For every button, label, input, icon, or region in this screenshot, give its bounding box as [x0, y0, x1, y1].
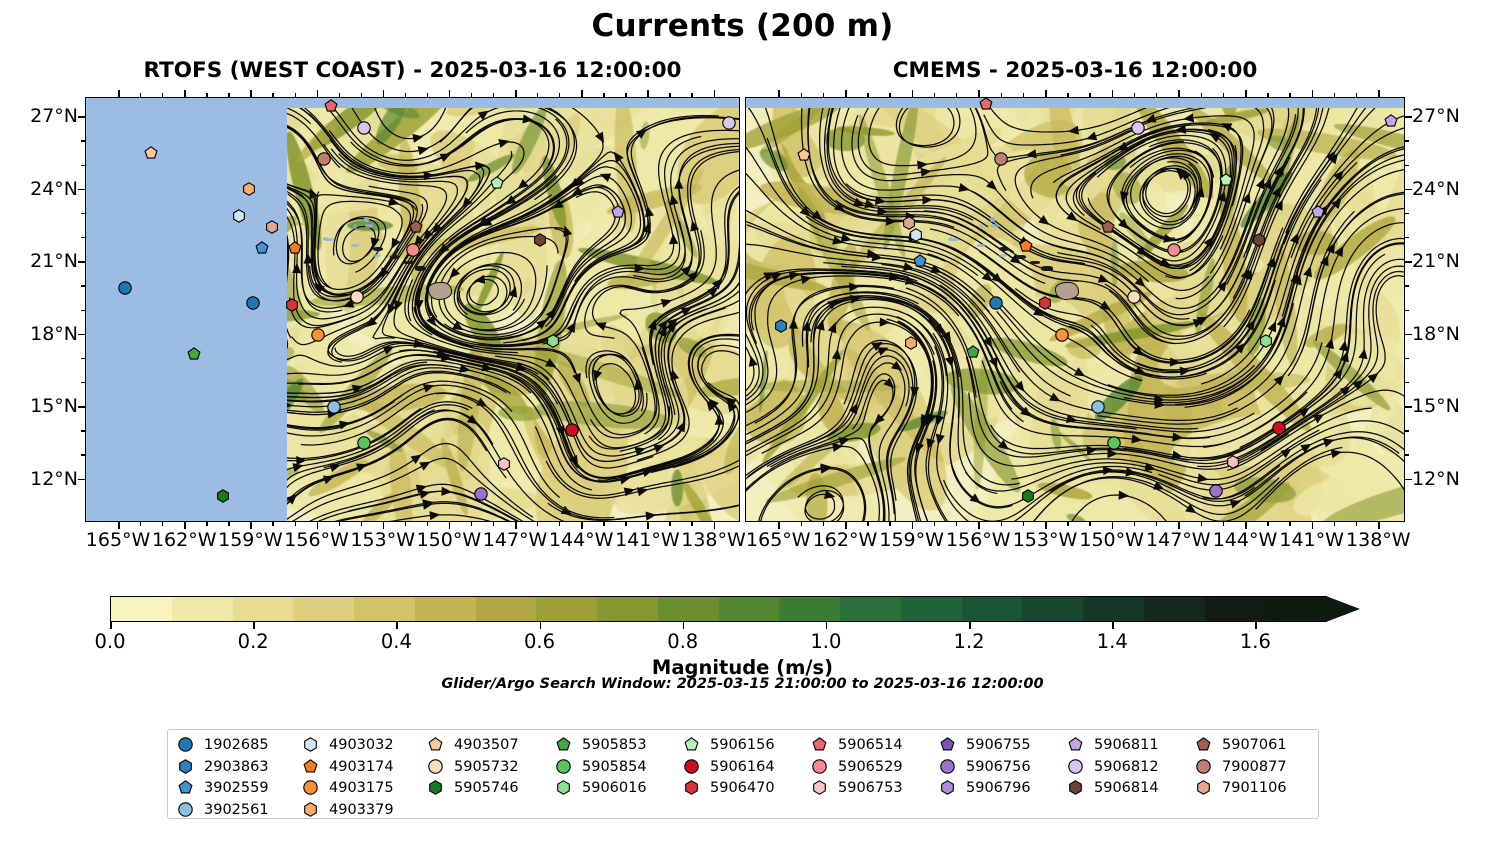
xtick-minor-top: [427, 93, 428, 97]
ytick-major: [78, 261, 85, 263]
ytick-label-left: 27°N: [30, 105, 78, 127]
xtick-minor: [867, 522, 868, 526]
xtick-label: 165°W: [746, 529, 811, 551]
xtick-major: [647, 522, 649, 529]
legend-swatch-pentagon-icon: [428, 737, 445, 754]
colorbar-band-19: [1265, 597, 1326, 621]
float-marker-4903175[interactable]: [1055, 328, 1069, 342]
ytick-label-right: 18°N: [1412, 323, 1460, 345]
float-marker-5907061[interactable]: [409, 220, 423, 234]
streamline-arrow: [1219, 119, 1232, 132]
search-window-caption: Glider/Argo Search Window: 2025-03-15 21…: [0, 676, 1485, 692]
ytick-label-right: 21°N: [1412, 250, 1460, 272]
float-marker-5905854[interactable]: [1107, 436, 1121, 450]
colorbar-band-2: [233, 597, 294, 621]
colorbar-band-0: [111, 597, 172, 621]
legend-item-7900877[interactable]: 7900877: [1196, 759, 1324, 776]
legend-swatch-hexagon-icon: [684, 780, 701, 797]
ytick-label-right: 27°N: [1412, 105, 1460, 127]
colorbar-tick: [826, 622, 828, 629]
xtick-label: 141°W: [615, 529, 680, 551]
xtick-minor-top: [1289, 93, 1290, 97]
legend-item-5906514[interactable]: 5906514: [812, 737, 940, 754]
legend-swatch-hexagon-icon: [940, 780, 957, 797]
float-marker-5905746[interactable]: [216, 489, 230, 503]
colorbar-tick-label: 1.6: [1240, 630, 1271, 653]
streamline: [329, 130, 524, 268]
shallow-bank: [991, 224, 998, 228]
ytick-minor: [1405, 213, 1409, 214]
float-marker-5906470[interactable]: [285, 298, 299, 312]
xtick-major-top: [383, 90, 385, 97]
xtick-minor-top: [228, 93, 229, 97]
float-marker-5906514[interactable]: [979, 97, 993, 111]
colorbar-band-14: [962, 597, 1023, 621]
xtick-major-top: [714, 90, 716, 97]
xtick-minor-top: [361, 93, 362, 97]
legend-item-5906470[interactable]: 5906470: [684, 780, 812, 797]
streamline-arrow: [412, 132, 424, 143]
legend-item-5906796[interactable]: 5906796: [940, 780, 1068, 797]
streamline-arrow: [411, 451, 425, 464]
xtick-minor: [956, 522, 957, 526]
float-marker-5906016[interactable]: [1259, 334, 1273, 348]
float-marker-5906812[interactable]: [1131, 121, 1145, 135]
colorbar-band-7: [536, 597, 597, 621]
island-kauai: [999, 247, 1009, 251]
panel-title-rtofs: RTOFS (WEST COAST) - 2025-03-16 12:00:00: [85, 58, 740, 83]
legend-label: 5906156: [710, 737, 775, 754]
xtick-major: [778, 522, 780, 529]
legend-swatch-circle-icon: [428, 759, 445, 776]
float-marker-4903174[interactable]: [1019, 239, 1033, 253]
ytick-major: [78, 116, 85, 118]
xtick-major: [1245, 522, 1247, 529]
figure-canvas: Currents (200 m) RTOFS (WEST COAST) - 20…: [0, 0, 1485, 863]
ytick-label-left: 15°N: [30, 395, 78, 417]
legend-label: 4903032: [329, 737, 394, 754]
legend-swatch-pentagon-icon: [940, 737, 957, 754]
xtick-minor: [1156, 522, 1157, 526]
xtick-major-top: [317, 90, 319, 97]
ytick-major: [78, 334, 85, 336]
float-marker-5906756[interactable]: [474, 487, 488, 501]
streamline-arrow: [958, 183, 970, 194]
streamline-arrow: [1183, 113, 1195, 123]
streamline: [901, 273, 1210, 438]
float-marker-4903379[interactable]: [242, 182, 256, 196]
legend-label: 4903379: [329, 802, 394, 819]
float-marker-5906164[interactable]: [565, 423, 579, 437]
streamline-arrow: [886, 217, 897, 227]
legend-item-5906812[interactable]: 5906812: [1068, 759, 1196, 776]
float-marker-4903507[interactable]: [797, 148, 811, 162]
ytick-label-right: 24°N: [1412, 178, 1460, 200]
xtick-minor: [295, 522, 296, 526]
xtick-major: [250, 522, 252, 529]
xtick-major-top: [1312, 90, 1314, 97]
streamline-arrow: [1303, 265, 1315, 278]
xtick-minor-top: [823, 93, 824, 97]
colorbar-band-11: [779, 597, 840, 621]
colorbar-tick-label: 1.0: [810, 630, 841, 653]
float-marker-7901106[interactable]: [265, 220, 279, 234]
xtick-minor-top: [206, 93, 207, 97]
legend-column-1: 4903032490317449031754903379: [303, 737, 428, 819]
xtick-major-top: [449, 90, 451, 97]
streamline-arrow: [572, 373, 584, 386]
streamline-arrow: [292, 263, 301, 274]
float-marker-3902559[interactable]: [255, 241, 269, 255]
ytick-major: [78, 479, 85, 481]
colorbar-tick-label: 0.6: [524, 630, 555, 653]
figure-suptitle: Currents (200 m): [0, 8, 1485, 44]
legend-item-5906811[interactable]: 5906811: [1068, 737, 1196, 754]
float-marker-3902561[interactable]: [1091, 400, 1105, 414]
xtick-minor: [603, 522, 604, 526]
legend-item-5906529[interactable]: 5906529: [812, 759, 940, 776]
legend-item-5906156[interactable]: 5906156: [684, 737, 812, 754]
streamline: [979, 252, 1270, 364]
float-marker-4903032[interactable]: [909, 228, 923, 242]
float-marker-5905853[interactable]: [187, 347, 201, 361]
xtick-minor: [339, 522, 340, 526]
legend-label: 5906514: [838, 737, 903, 754]
legend-item-5905746[interactable]: 5905746: [428, 780, 556, 797]
colorbar-tick: [1112, 622, 1114, 629]
streamline: [767, 363, 905, 521]
ytick-major: [1405, 479, 1412, 481]
xtick-minor: [1334, 522, 1335, 526]
float-marker-5906812[interactable]: [357, 121, 371, 135]
xtick-minor: [559, 522, 560, 526]
legend-swatch-pentagon-icon: [812, 737, 829, 754]
legend-item-3902561[interactable]: 3902561: [178, 802, 303, 819]
north-boundary-band-cmems: [746, 98, 1404, 108]
island-molokai: [1030, 261, 1041, 264]
ytick-minor: [1405, 430, 1409, 431]
float-marker-4903175[interactable]: [311, 328, 325, 342]
colorbar-tick: [110, 622, 112, 629]
xtick-major-top: [778, 90, 780, 97]
xtick-minor: [272, 522, 273, 526]
ytick-label-right: 15°N: [1412, 395, 1460, 417]
island-maui: [415, 266, 426, 270]
float-marker-5906470[interactable]: [1038, 296, 1052, 310]
legend-item-4903032[interactable]: 4903032: [303, 737, 428, 754]
float-marker-4903174[interactable]: [288, 241, 302, 255]
float-marker-5906156[interactable]: [1219, 173, 1233, 187]
streamline-arrow: [828, 320, 840, 333]
ytick-major: [1405, 261, 1412, 263]
float-marker-5906811b[interactable]: [1311, 205, 1325, 219]
legend-label: 7901106: [1222, 780, 1287, 797]
float-marker-3902559[interactable]: [913, 254, 927, 268]
legend-item-4903174[interactable]: 4903174: [303, 759, 428, 776]
legend-item-5905853[interactable]: 5905853: [556, 737, 684, 754]
streamline-arrow: [478, 107, 492, 120]
legend-column-7: 590681159068125906814: [1068, 737, 1196, 797]
xtick-major: [845, 522, 847, 529]
ytick-minor: [81, 454, 85, 455]
xtick-major-top: [1045, 90, 1047, 97]
xtick-minor-top: [669, 93, 670, 97]
legend-swatch-circle-icon: [940, 759, 957, 776]
ytick-minor: [81, 237, 85, 238]
shallow-bank: [364, 217, 369, 222]
colorbar-tick-label: 0.8: [667, 630, 698, 653]
xtick-label: 153°W: [350, 529, 415, 551]
colorbar-band-3: [293, 597, 354, 621]
streamline: [869, 98, 976, 166]
xtick-major: [317, 522, 319, 529]
float-legend[interactable]: 1902685290386339025593902561490303249031…: [167, 729, 1319, 819]
legend-label: 5906755: [966, 737, 1031, 754]
xtick-minor: [1267, 522, 1268, 526]
xtick-minor-top: [162, 93, 163, 97]
xtick-minor: [823, 522, 824, 526]
ytick-minor: [1405, 140, 1409, 141]
streamline: [591, 230, 705, 438]
xtick-major: [184, 522, 186, 529]
xtick-label: 147°W: [483, 529, 548, 551]
shallow-bank: [365, 224, 372, 228]
float-marker-5906753[interactable]: [1226, 455, 1240, 469]
streamline: [644, 339, 739, 472]
float-marker-5906811[interactable]: [1384, 114, 1398, 128]
streamline-arrow: [669, 233, 679, 244]
float-marker-4903379[interactable]: [904, 336, 918, 350]
float-marker-5905853[interactable]: [966, 345, 980, 359]
map-panel-rtofs[interactable]: [85, 97, 740, 522]
legend-label: 4903175: [329, 780, 394, 797]
streamline: [354, 515, 505, 521]
xtick-minor: [934, 522, 935, 526]
legend-swatch-hexagon-icon: [303, 737, 320, 754]
streamline: [334, 217, 386, 273]
xtick-major-top: [647, 90, 649, 97]
xtick-minor-top: [1001, 93, 1002, 97]
streamline-arrow: [418, 144, 430, 155]
xtick-minor-top: [889, 93, 890, 97]
colorbar[interactable]: [110, 596, 1360, 622]
legend-label: 5905746: [454, 780, 519, 797]
xtick-minor-top: [1023, 93, 1024, 97]
float-marker-7900877[interactable]: [317, 152, 331, 166]
streamline-arrow: [429, 510, 440, 520]
ytick-major: [78, 406, 85, 408]
xtick-minor: [140, 522, 141, 526]
colorbar-band-8: [597, 597, 658, 621]
legend-item-2903863[interactable]: 2903863: [178, 759, 303, 776]
legend-item-5906756[interactable]: 5906756: [940, 759, 1068, 776]
map-panel-cmems[interactable]: [745, 97, 1405, 522]
float-marker-2903863[interactable]: [774, 319, 788, 333]
float-marker-5906811[interactable]: [611, 205, 625, 219]
float-marker-5906529[interactable]: [1167, 243, 1181, 257]
legend-swatch-hexagon-icon: [1068, 780, 1085, 797]
streamline-arrow: [595, 132, 608, 146]
float-marker-5906016[interactable]: [546, 334, 560, 348]
legend-swatch-hexagon-icon: [428, 780, 445, 797]
float-marker-5905732[interactable]: [350, 290, 364, 304]
streamline-arrow: [917, 160, 928, 170]
xtick-minor-top: [625, 93, 626, 97]
xtick-label: 141°W: [1279, 529, 1344, 551]
xtick-minor-top: [1267, 93, 1268, 97]
float-marker-7900877[interactable]: [994, 152, 1008, 166]
float-marker-5906753[interactable]: [497, 457, 511, 471]
legend-item-4903175[interactable]: 4903175: [303, 780, 428, 797]
streamline: [634, 335, 739, 473]
float-marker-1902685[interactable]: [989, 296, 1003, 310]
xtick-minor: [471, 522, 472, 526]
legend-label: 3902559: [204, 780, 269, 797]
xtick-major: [383, 522, 385, 529]
legend-label: 1902685: [204, 737, 269, 754]
colorbar-tick-label: 0.0: [94, 630, 125, 653]
xtick-minor: [427, 522, 428, 526]
legend-label: 5907061: [1222, 737, 1287, 754]
xtick-minor: [1201, 522, 1202, 526]
xtick-major: [912, 522, 914, 529]
xtick-label: 144°W: [1213, 529, 1278, 551]
legend-item-5906164[interactable]: 5906164: [684, 759, 812, 776]
legend-swatch-hexagon-icon: [812, 780, 829, 797]
float-marker-5906814[interactable]: [533, 233, 547, 247]
streamline-arrow: [1268, 319, 1281, 332]
float-marker-5907061[interactable]: [1101, 220, 1115, 234]
xtick-minor: [889, 522, 890, 526]
xtick-minor-top: [1156, 93, 1157, 97]
legend-item-5905732[interactable]: 5905732: [428, 759, 556, 776]
float-marker-4903507[interactable]: [144, 146, 158, 160]
legend-swatch-circle-icon: [178, 802, 195, 819]
ytick-minor: [81, 213, 85, 214]
float-marker-5906814[interactable]: [1252, 233, 1266, 247]
xtick-label: 156°W: [284, 529, 349, 551]
shallow-bank: [351, 244, 359, 247]
ytick-minor: [1405, 310, 1409, 311]
float-marker-5905854[interactable]: [357, 436, 371, 450]
island-hawaii: [428, 282, 452, 299]
float-marker-5906164[interactable]: [1272, 421, 1286, 435]
colorbar-band-12: [840, 597, 901, 621]
streamline-arrow: [1074, 367, 1088, 380]
colorbar-band-13: [901, 597, 962, 621]
xtick-minor: [1223, 522, 1224, 526]
legend-swatch-circle-icon: [556, 759, 573, 776]
legend-item-5906814[interactable]: 5906814: [1068, 780, 1196, 797]
streamlines-cmems: [746, 98, 1404, 521]
legend-swatch-pentagon-icon: [684, 737, 701, 754]
legend-item-4903379[interactable]: 4903379: [303, 802, 428, 819]
streamline-arrow: [1170, 357, 1181, 367]
streamline-arrow: [1066, 211, 1080, 225]
legend-item-1902685[interactable]: 1902685: [178, 737, 303, 754]
legend-swatch-pentagon-icon: [303, 759, 320, 776]
island-kauai: [373, 247, 383, 251]
xtick-major-top: [1245, 90, 1247, 97]
legend-item-5906753[interactable]: 5906753: [812, 780, 940, 797]
xtick-minor: [537, 522, 538, 526]
shallow-bank: [949, 237, 952, 240]
legend-item-5906016[interactable]: 5906016: [556, 780, 684, 797]
streamline-arrow: [1172, 432, 1183, 442]
legend-item-7901106[interactable]: 7901106: [1196, 780, 1324, 797]
streamline-arrow: [832, 348, 842, 359]
ytick-major: [1405, 406, 1412, 408]
float-marker-5906156[interactable]: [490, 176, 504, 190]
legend-label: 5906470: [710, 780, 775, 797]
colorbar-tick: [253, 622, 255, 629]
xtick-major-top: [978, 90, 980, 97]
legend-label: 5906814: [1094, 780, 1159, 797]
legend-item-5907061[interactable]: 5907061: [1196, 737, 1324, 754]
streamline-arrow: [1098, 274, 1111, 286]
ytick-label-left: 18°N: [30, 323, 78, 345]
ytick-minor: [1405, 382, 1409, 383]
xtick-minor-top: [537, 93, 538, 97]
xtick-minor: [1089, 522, 1090, 526]
float-marker-3902561[interactable]: [327, 400, 341, 414]
streamline-arrow: [1118, 491, 1129, 501]
xtick-major-top: [912, 90, 914, 97]
panel-title-cmems: CMEMS - 2025-03-16 12:00:00: [745, 58, 1405, 83]
legend-item-5906755[interactable]: 5906755: [940, 737, 1068, 754]
colorbar-gradient: [110, 596, 1327, 622]
float-marker-5906529[interactable]: [406, 243, 420, 257]
xtick-minor-top: [1134, 93, 1135, 97]
float-marker-4903032[interactable]: [232, 209, 246, 223]
colorbar-tick-label: 1.2: [954, 630, 985, 653]
float-marker-5906812b[interactable]: [722, 116, 736, 130]
colorbar-band-17: [1144, 597, 1205, 621]
streamline-arrow: [1025, 149, 1037, 159]
legend-item-3902559[interactable]: 3902559: [178, 780, 303, 797]
legend-swatch-hexagon-icon: [178, 759, 195, 776]
float-marker-1902685b[interactable]: [246, 296, 260, 310]
xtick-label: 150°W: [1079, 529, 1144, 551]
ytick-minor: [81, 165, 85, 166]
legend-label: 5905732: [454, 759, 519, 776]
ytick-minor: [81, 358, 85, 359]
streamline-arrow: [1290, 231, 1302, 244]
xtick-minor: [1289, 522, 1290, 526]
streamline-arrow: [296, 456, 307, 465]
float-marker-1902685[interactable]: [118, 281, 132, 295]
legend-item-4903507[interactable]: 4903507: [428, 737, 556, 754]
float-marker-5905746[interactable]: [1021, 489, 1035, 503]
xtick-minor-top: [295, 93, 296, 97]
streamline-arrow: [1325, 337, 1336, 349]
xtick-minor: [1001, 522, 1002, 526]
legend-item-5905854[interactable]: 5905854: [556, 759, 684, 776]
legend-swatch-circle-icon: [684, 759, 701, 776]
float-marker-5906756[interactable]: [1209, 484, 1223, 498]
ytick-minor: [81, 382, 85, 383]
float-marker-5905732[interactable]: [1127, 290, 1141, 304]
legend-label: 5905853: [582, 737, 647, 754]
xtick-major-top: [1112, 90, 1114, 97]
legend-label: 7900877: [1222, 759, 1287, 776]
streamline-arrow: [1067, 126, 1079, 136]
colorbar-band-1: [172, 597, 233, 621]
legend-swatch-circle-icon: [1196, 759, 1213, 776]
float-marker-5906514[interactable]: [324, 99, 338, 113]
xtick-minor-top: [140, 93, 141, 97]
streamline: [1197, 266, 1404, 466]
